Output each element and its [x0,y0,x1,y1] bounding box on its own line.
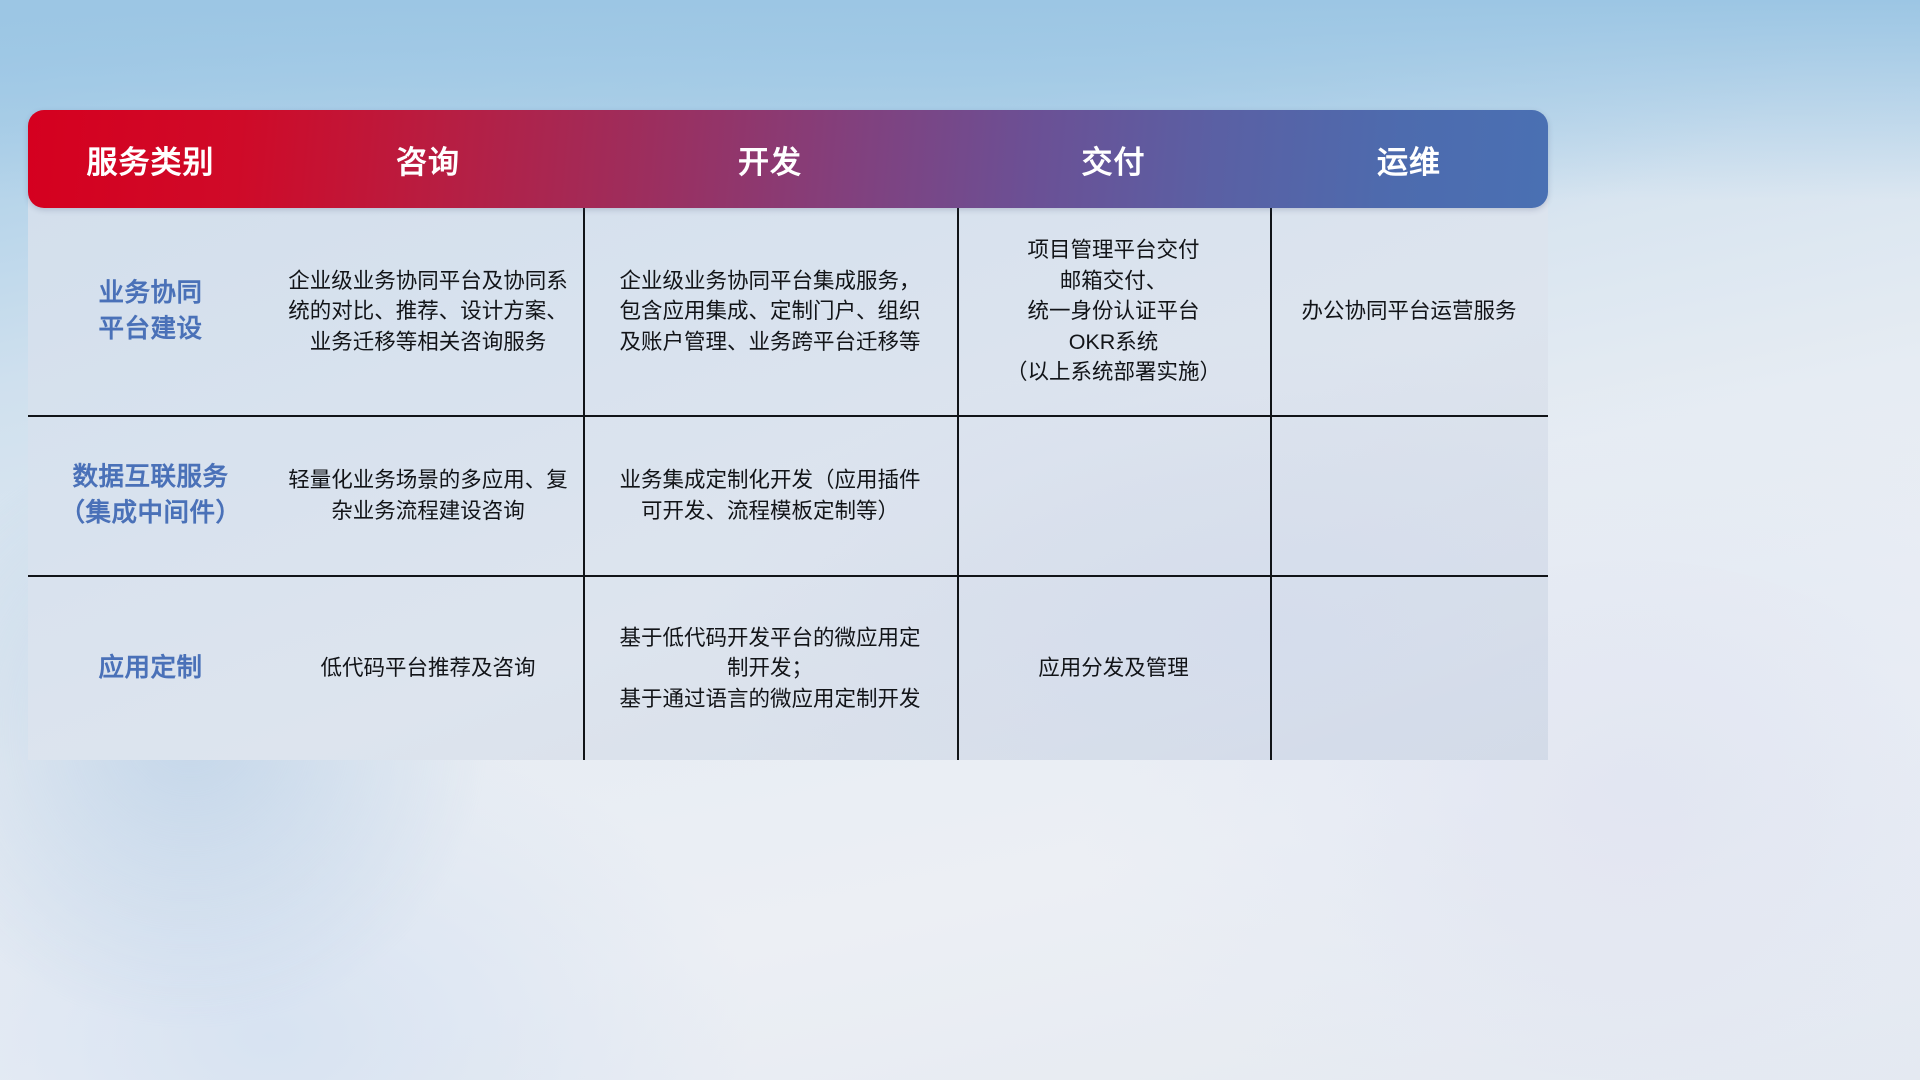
table-header-cell-category: 服务类别 [28,137,273,182]
table-header-cell-delivery: 交付 [957,137,1270,182]
row-category-label: 业务协同 平台建设 [28,208,273,415]
cell-operations [1270,577,1548,760]
table-row: 应用定制 低代码平台推荐及咨询 基于低代码开发平台的微应用定 制开发； 基于通过… [28,575,1548,760]
service-matrix-table: 服务类别 咨询 开发 交付 运维 业务协同 平台建设 企业级业务协同平台及协同系… [28,110,1548,760]
cell-delivery [957,417,1270,575]
cell-delivery: 项目管理平台交付 邮箱交付、 统一身份认证平台 OKR系统 （以上系统部署实施） [957,208,1270,415]
cell-development: 基于低代码开发平台的微应用定 制开发； 基于通过语言的微应用定制开发 [583,577,957,760]
table-header-cell-consulting: 咨询 [273,137,583,182]
table-row: 数据互联服务 （集成中间件） 轻量化业务场景的多应用、复 杂业务流程建设咨询 业… [28,415,1548,575]
cell-operations [1270,417,1548,575]
cell-operations: 办公协同平台运营服务 [1270,208,1548,415]
table-header-cell-development: 开发 [583,137,957,182]
slide-canvas: 服务类别 咨询 开发 交付 运维 业务协同 平台建设 企业级业务协同平台及协同系… [0,0,1920,1080]
cell-development: 业务集成定制化开发（应用插件 可开发、流程模板定制等） [583,417,957,575]
table-row: 业务协同 平台建设 企业级业务协同平台及协同系 统的对比、推荐、设计方案、 业务… [28,208,1548,415]
cell-development: 企业级业务协同平台集成服务， 包含应用集成、定制门户、组织 及账户管理、业务跨平… [583,208,957,415]
cell-consulting: 企业级业务协同平台及协同系 统的对比、推荐、设计方案、 业务迁移等相关咨询服务 [273,208,583,415]
table-header-cell-operations: 运维 [1270,137,1548,182]
table-body: 业务协同 平台建设 企业级业务协同平台及协同系 统的对比、推荐、设计方案、 业务… [28,198,1548,760]
table-header-row: 服务类别 咨询 开发 交付 运维 [28,110,1548,208]
cell-consulting: 轻量化业务场景的多应用、复 杂业务流程建设咨询 [273,417,583,575]
row-category-label: 应用定制 [28,577,273,760]
cell-consulting: 低代码平台推荐及咨询 [273,577,583,760]
cell-delivery: 应用分发及管理 [957,577,1270,760]
row-category-label: 数据互联服务 （集成中间件） [28,417,273,575]
